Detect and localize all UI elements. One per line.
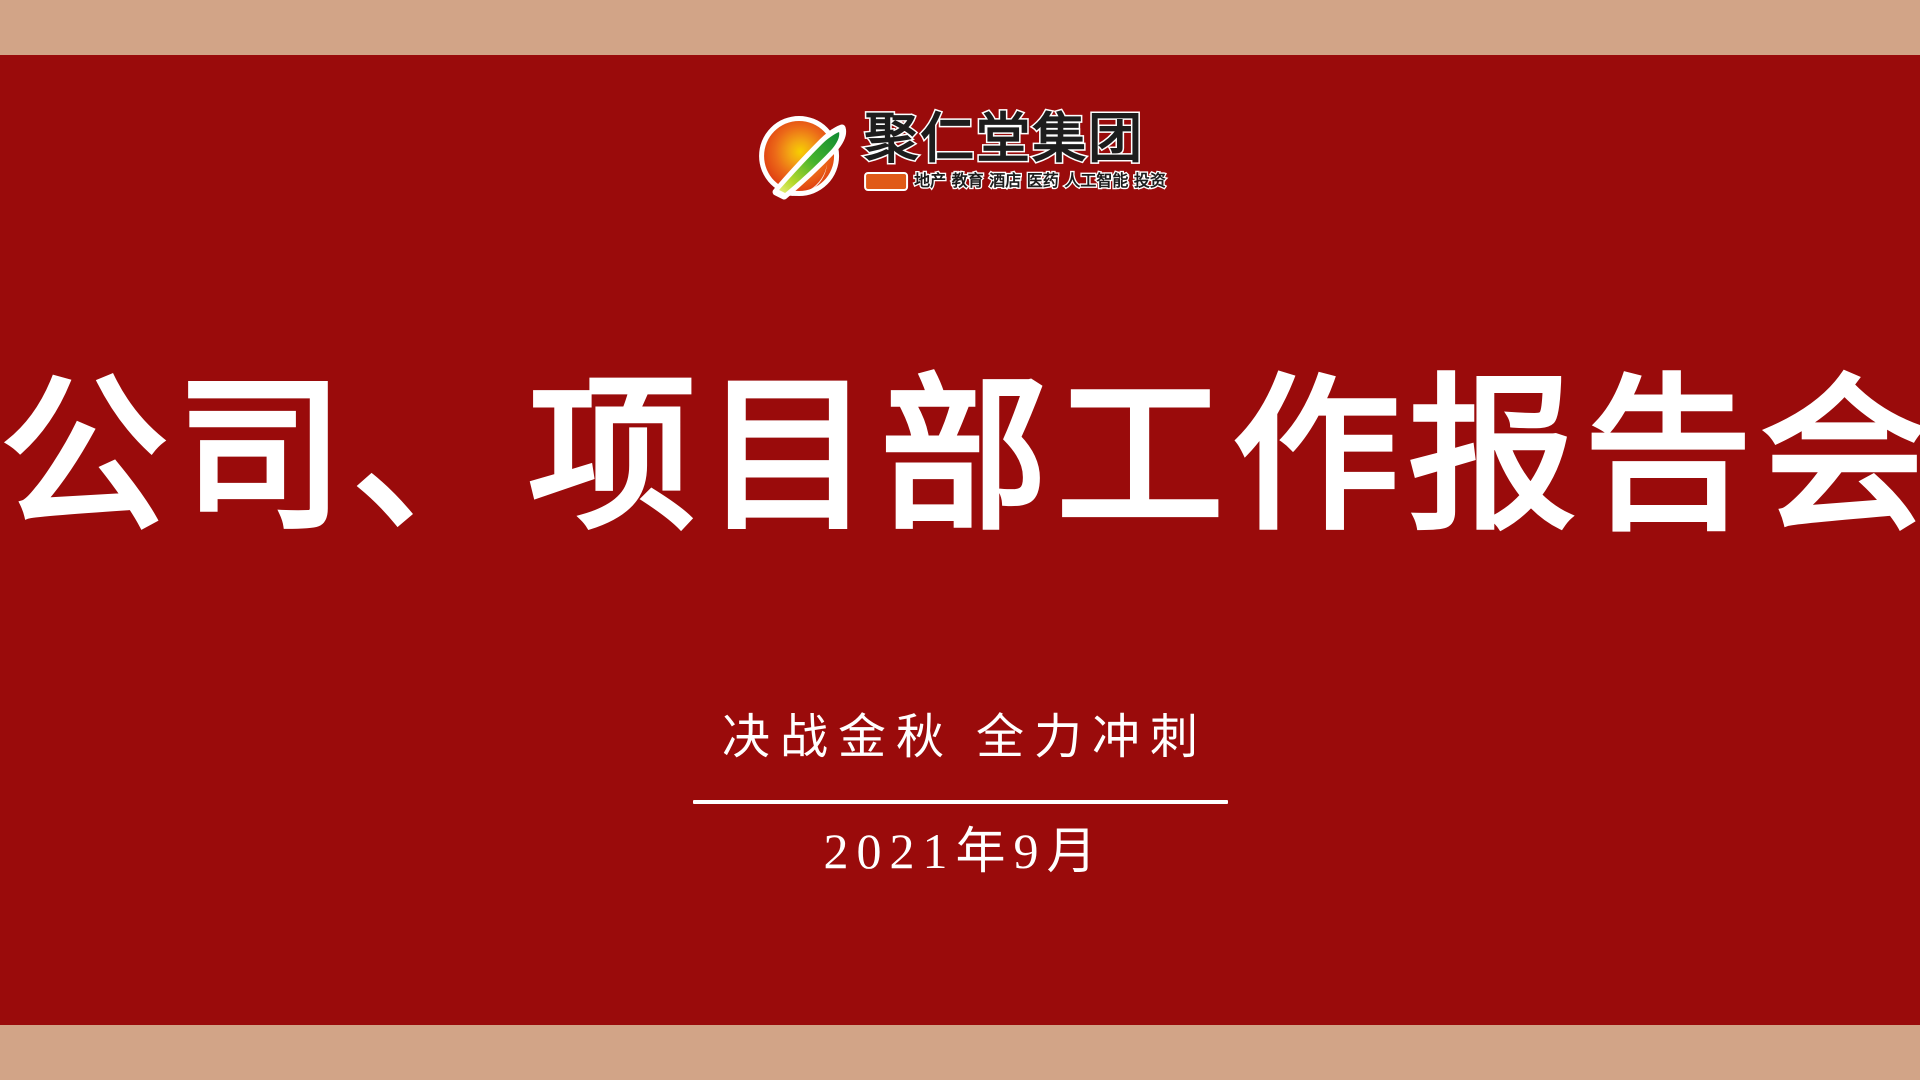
logo-color-swatch <box>864 172 908 191</box>
subtitle-divider <box>693 800 1228 804</box>
bottom-decorative-band <box>0 1025 1920 1080</box>
company-logo: 聚仁堂集团 地产 教育 酒店 医药 人工智能 投资 <box>754 108 1166 204</box>
logo-company-name: 聚仁堂集团 <box>864 110 1166 168</box>
logo-business-tags: 地产 教育 酒店 医药 人工智能 投资 <box>914 171 1166 191</box>
logo-text-block: 聚仁堂集团 地产 教育 酒店 医药 人工智能 投资 <box>864 108 1166 191</box>
logo-tag-row: 地产 教育 酒店 医药 人工智能 投资 <box>864 171 1166 191</box>
slide-subtitle-block: 决战金秋 全力冲刺 2021年9月 <box>690 706 1230 882</box>
slide-slogan: 决战金秋 全力冲刺 <box>690 706 1230 770</box>
globe-swoosh-logo-icon <box>754 108 850 204</box>
slide-title: 公司、项目部工作报告会 <box>0 358 1920 558</box>
top-decorative-band <box>0 0 1920 55</box>
presentation-slide: 聚仁堂集团 地产 教育 酒店 医药 人工智能 投资 公司、项目部工作报告会 决战… <box>0 0 1920 1080</box>
slide-date: 2021年9月 <box>690 820 1230 882</box>
